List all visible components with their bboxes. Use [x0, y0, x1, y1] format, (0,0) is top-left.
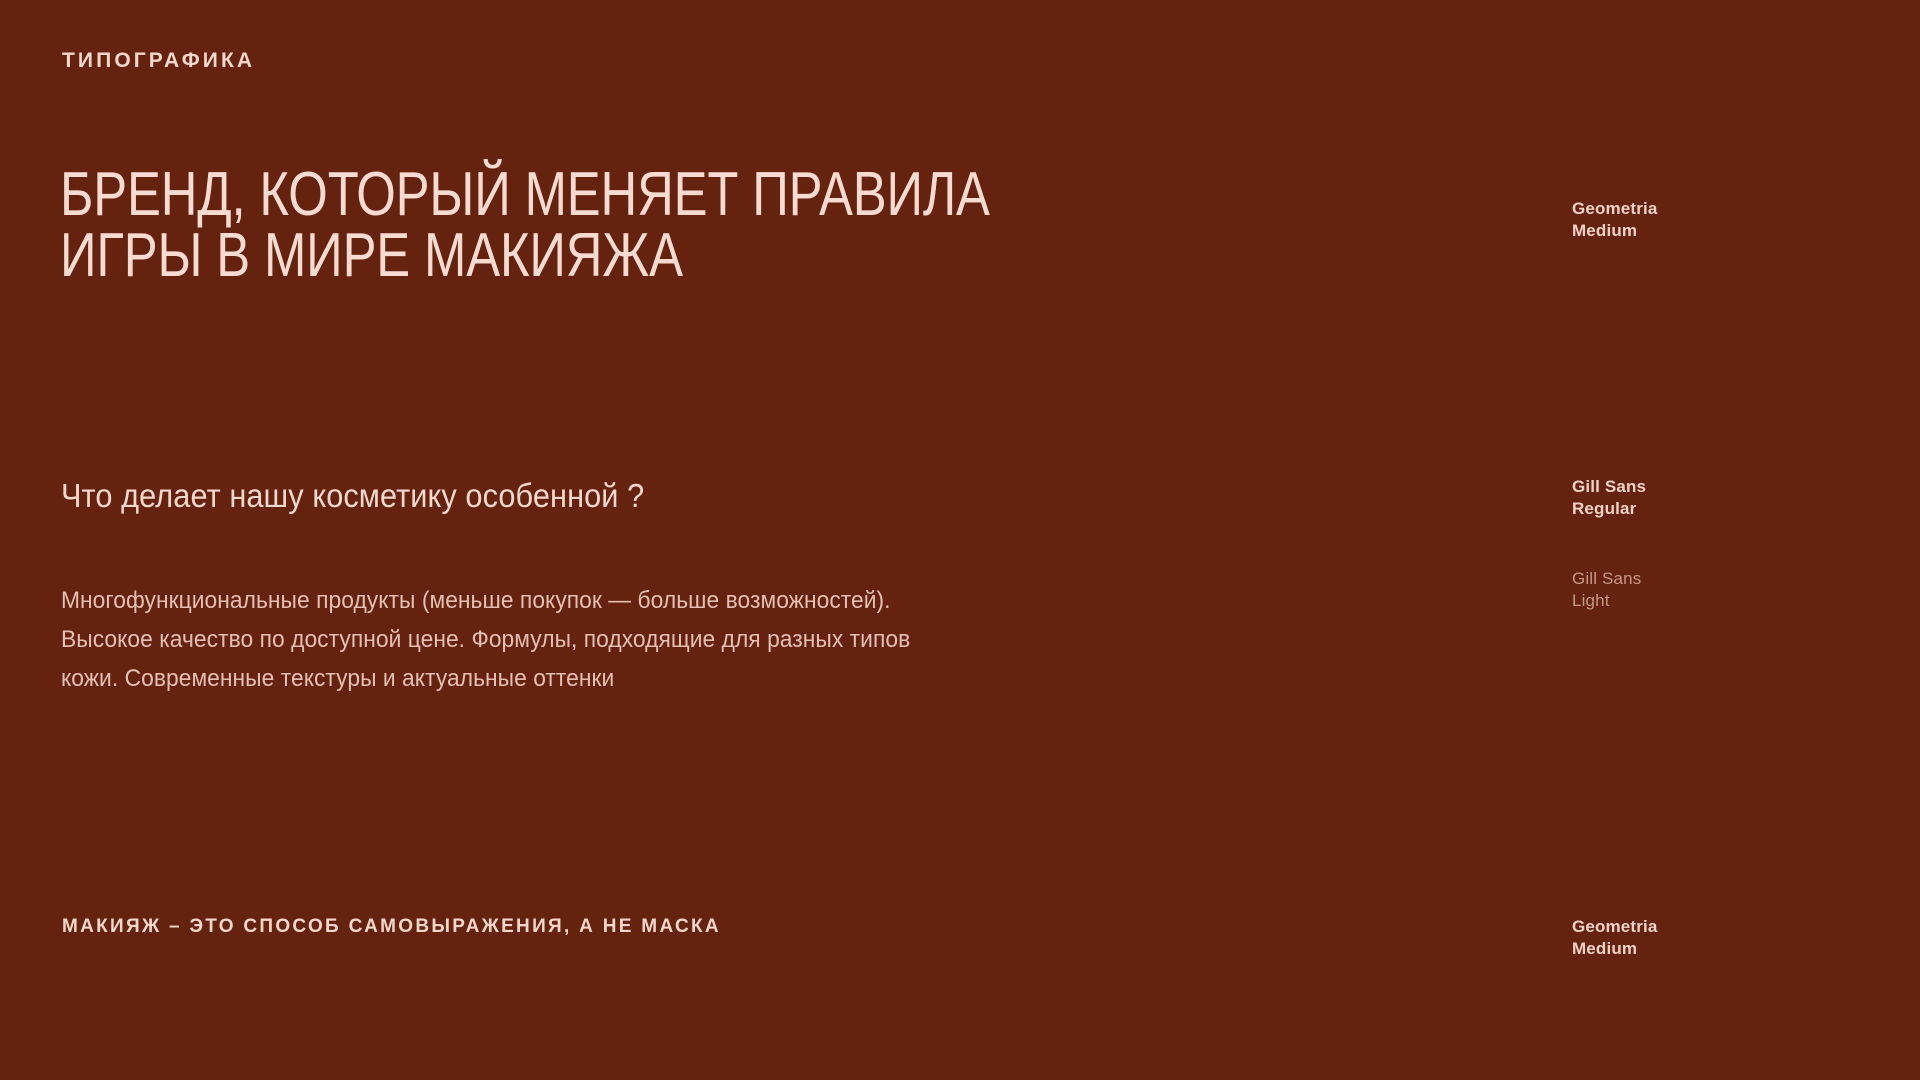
annotation-heading-font-family: Geometria [1572, 198, 1657, 220]
tagline: МАКИЯЖ – ЭТО СПОСОБ САМОВЫРАЖЕНИЯ, А НЕ … [62, 916, 721, 939]
annotation-subheading-font-family: Gill Sans [1572, 476, 1646, 498]
display-heading: БРЕНД, КОТОРЫЙ МЕНЯЕТ ПРАВИЛА ИГРЫ В МИР… [60, 165, 1028, 287]
annotation-subheading-font: Gill Sans Regular [1572, 476, 1646, 521]
annotation-body-font-weight: Light [1572, 590, 1641, 612]
display-heading-line-2: ИГРЫ В МИРЕ МАКИЯЖА [60, 226, 1028, 287]
annotation-tagline-font-family: Geometria [1572, 916, 1657, 938]
typography-specimen-slide: ТИПОГРАФИКА БРЕНД, КОТОРЫЙ МЕНЯЕТ ПРАВИЛ… [0, 0, 1920, 1080]
subheading-question: Что делает нашу косметику особенной ? [61, 475, 644, 516]
annotation-heading-font-weight: Medium [1572, 220, 1657, 242]
annotation-body-font-family: Gill Sans [1572, 568, 1641, 590]
annotation-heading-font: Geometria Medium [1572, 198, 1657, 243]
section-label-typography: ТИПОГРАФИКА [62, 48, 255, 73]
annotation-tagline-font-weight: Medium [1572, 938, 1657, 960]
annotation-subheading-font-weight: Regular [1572, 498, 1646, 520]
body-paragraph: Многофункциональные продукты (меньше пок… [61, 582, 921, 699]
display-heading-line-1: БРЕНД, КОТОРЫЙ МЕНЯЕТ ПРАВИЛА [60, 165, 1028, 226]
annotation-body-font: Gill Sans Light [1572, 568, 1641, 613]
annotation-tagline-font: Geometria Medium [1572, 916, 1657, 961]
